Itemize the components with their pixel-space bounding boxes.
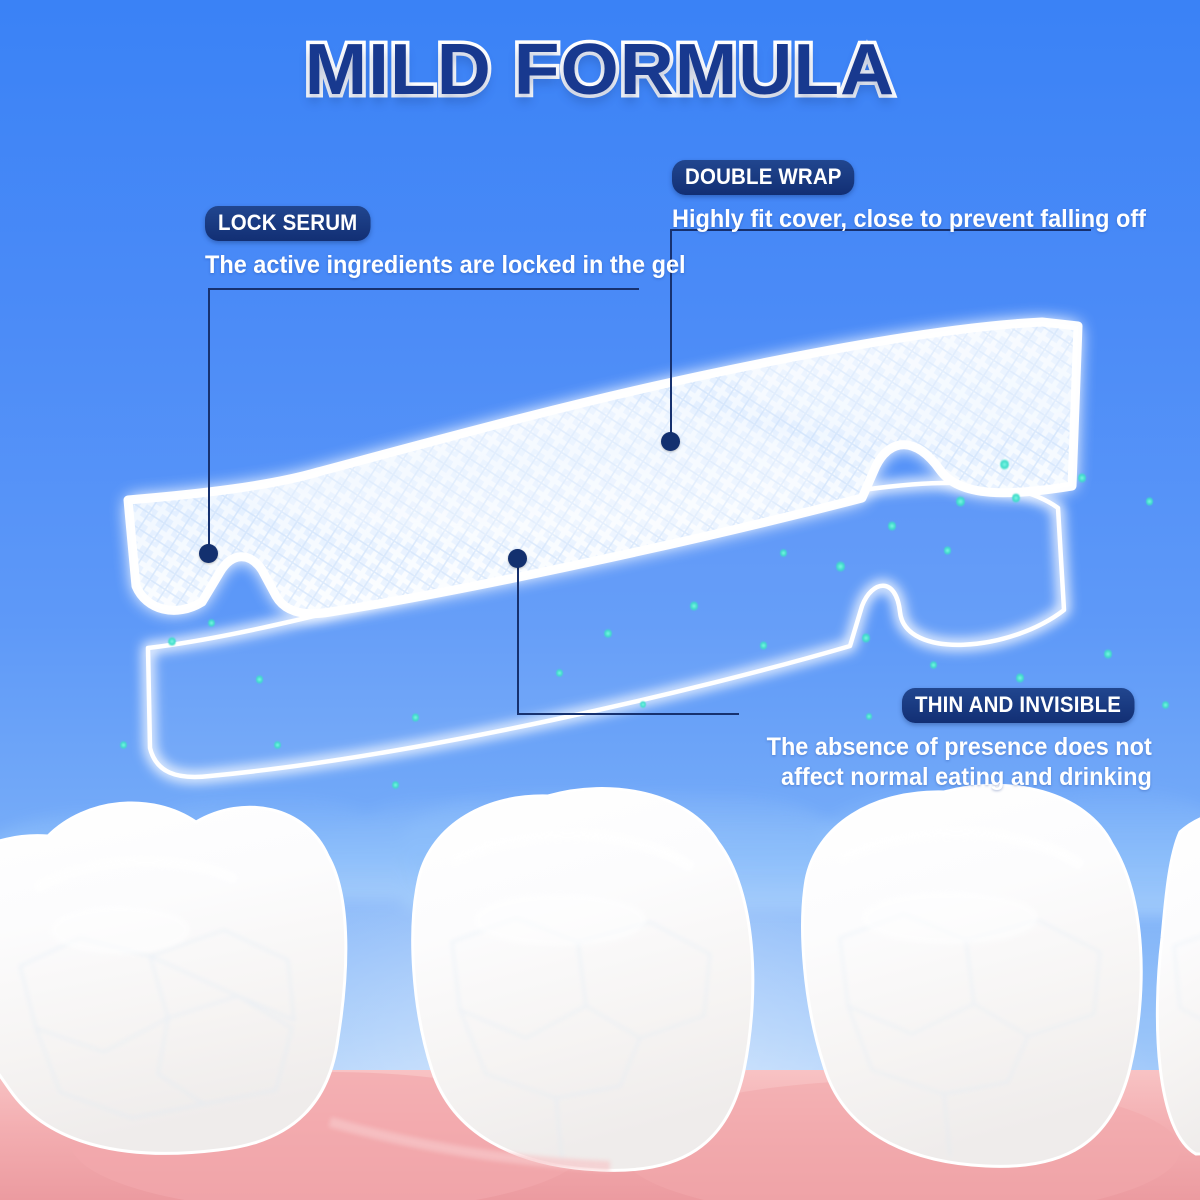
sparkle-dot — [1146, 496, 1153, 507]
connector-line-thin-invisible-horizontal — [517, 713, 739, 715]
description-double-wrap: Highly fit cover, close to prevent falli… — [672, 205, 1146, 235]
connector-line-thin-invisible-vertical — [517, 560, 519, 714]
sparkle-dot — [1012, 492, 1020, 504]
sparkle-dot — [556, 668, 563, 678]
tooth — [0, 803, 346, 1153]
sparkle-dot — [120, 740, 127, 750]
sparkle-dot — [1078, 472, 1086, 484]
sparkle-dot — [1016, 672, 1024, 684]
infographic-canvas: MILD FORMULA — [0, 0, 1200, 1200]
tooth — [413, 788, 753, 1170]
description-thin-invisible-line-1: The absence of presence does not — [767, 733, 1152, 763]
sparkle-dot — [690, 600, 698, 612]
sparkle-dot — [1000, 458, 1009, 471]
connector-line-lock-serum-horizontal — [208, 288, 639, 290]
callout-thin-invisible: THIN AND INVISIBLE The absence of presen… — [742, 688, 1152, 792]
callout-double-wrap: DOUBLE WRAP Highly fit cover, close to p… — [672, 160, 1176, 235]
teeth-with-gums — [0, 770, 1200, 1200]
sparkle-dot — [930, 660, 937, 670]
connector-dot-lock-serum — [199, 544, 218, 563]
sparkle-dot — [208, 618, 215, 628]
description-thin-invisible-line-2: affect normal eating and drinking — [767, 763, 1152, 793]
upper-textured-strip — [100, 300, 1120, 640]
connector-dot-thin-invisible — [508, 549, 527, 568]
sparkle-dot — [760, 640, 767, 651]
tooth — [803, 785, 1142, 1166]
sparkle-dot — [640, 700, 646, 709]
sparkle-dot — [836, 560, 845, 573]
sparkle-dot — [780, 548, 787, 558]
sparkle-dot — [168, 636, 176, 647]
sparkle-dot — [1104, 648, 1112, 660]
sparkle-dot — [412, 712, 419, 723]
callout-lock-serum: LOCK SERUM The active ingredients are lo… — [205, 206, 716, 281]
sparkle-dot — [604, 628, 612, 639]
page-title: MILD FORMULA — [0, 34, 1200, 106]
sparkle-dot — [274, 740, 281, 750]
description-lock-serum: The active ingredients are locked in the… — [205, 251, 686, 281]
sparkle-dot — [862, 632, 870, 644]
connector-dot-double-wrap — [661, 432, 680, 451]
connector-line-lock-serum-vertical — [208, 288, 210, 556]
sparkle-dot — [944, 545, 951, 556]
badge-lock-serum: LOCK SERUM — [205, 206, 370, 241]
badge-double-wrap: DOUBLE WRAP — [672, 160, 855, 195]
sparkle-dot — [888, 520, 896, 532]
sparkle-dot — [1162, 700, 1169, 710]
sparkle-dot — [956, 495, 965, 508]
badge-thin-invisible: THIN AND INVISIBLE — [902, 688, 1134, 723]
sparkle-dot — [256, 674, 263, 685]
